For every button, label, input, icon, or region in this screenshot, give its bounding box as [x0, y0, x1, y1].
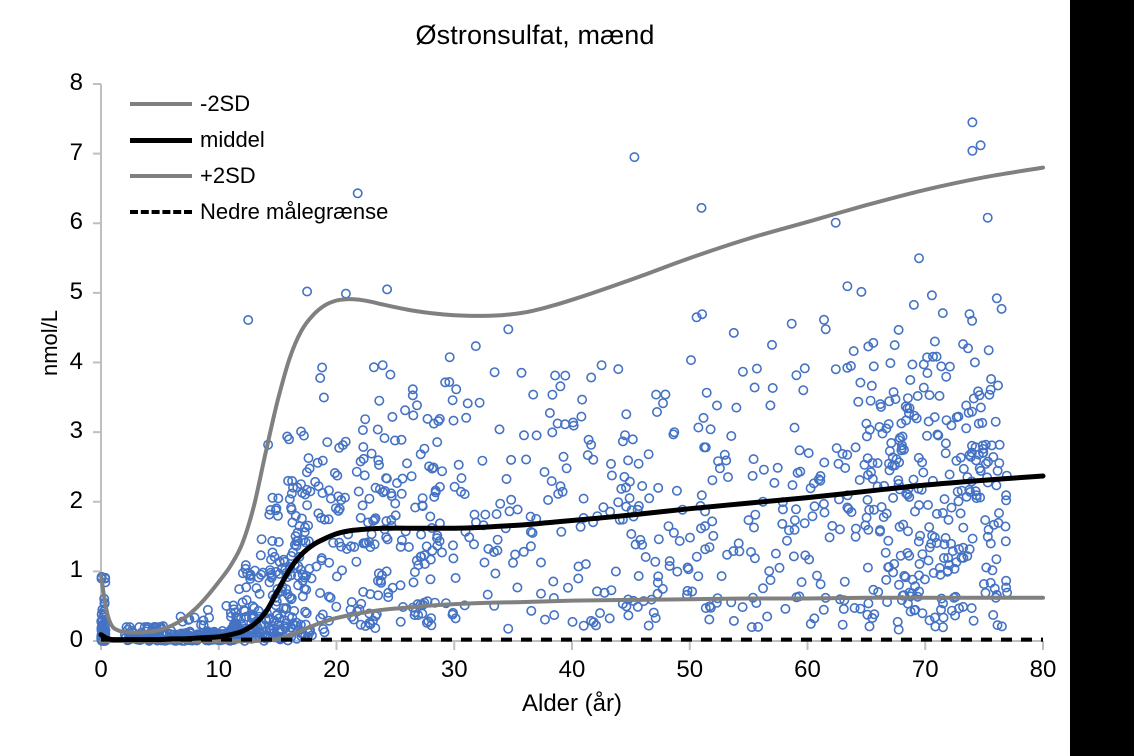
x-tick-label: 20: [307, 658, 367, 682]
y-tick-label: 3: [43, 419, 83, 443]
y-tick-label: 5: [43, 280, 83, 304]
y-tick-label: 1: [43, 558, 83, 582]
x-tick-label: 80: [1013, 658, 1073, 682]
legend-label-nedre-maalegraense: Nedre målegrænse: [200, 199, 388, 225]
x-tick-label: 70: [895, 658, 955, 682]
y-tick-label: 2: [43, 489, 83, 513]
y-tick-label: 0: [43, 628, 83, 652]
x-tick-label: 0: [71, 658, 131, 682]
x-tick-label: 50: [660, 658, 720, 682]
x-tick-label: 30: [424, 658, 484, 682]
y-tick-label: 7: [43, 141, 83, 165]
legend-item-middel: middel: [130, 122, 388, 158]
legend-label-plus2sd: +2SD: [200, 163, 256, 189]
y-tick-label: 6: [43, 210, 83, 234]
y-tick-label: 8: [43, 71, 83, 95]
legend-label-minus2sd: -2SD: [200, 91, 250, 117]
legend-item-nedre-maalegraense: Nedre målegrænse: [130, 194, 388, 230]
legend-item-plus2sd: +2SD: [130, 158, 388, 194]
x-tick-label: 60: [778, 658, 838, 682]
legend-label-middel: middel: [200, 127, 265, 153]
legend-item-minus2sd: -2SD: [130, 86, 388, 122]
right-black-band: [1070, 0, 1134, 756]
y-tick-label: 4: [43, 350, 83, 374]
x-tick-label: 10: [189, 658, 249, 682]
x-tick-label: 40: [542, 658, 602, 682]
chart-legend: -2SD middel +2SD Nedre målegrænse: [130, 86, 388, 230]
chart-container: Østronsulfat, mænd nmol/L Alder (år) -2S…: [0, 0, 1070, 756]
